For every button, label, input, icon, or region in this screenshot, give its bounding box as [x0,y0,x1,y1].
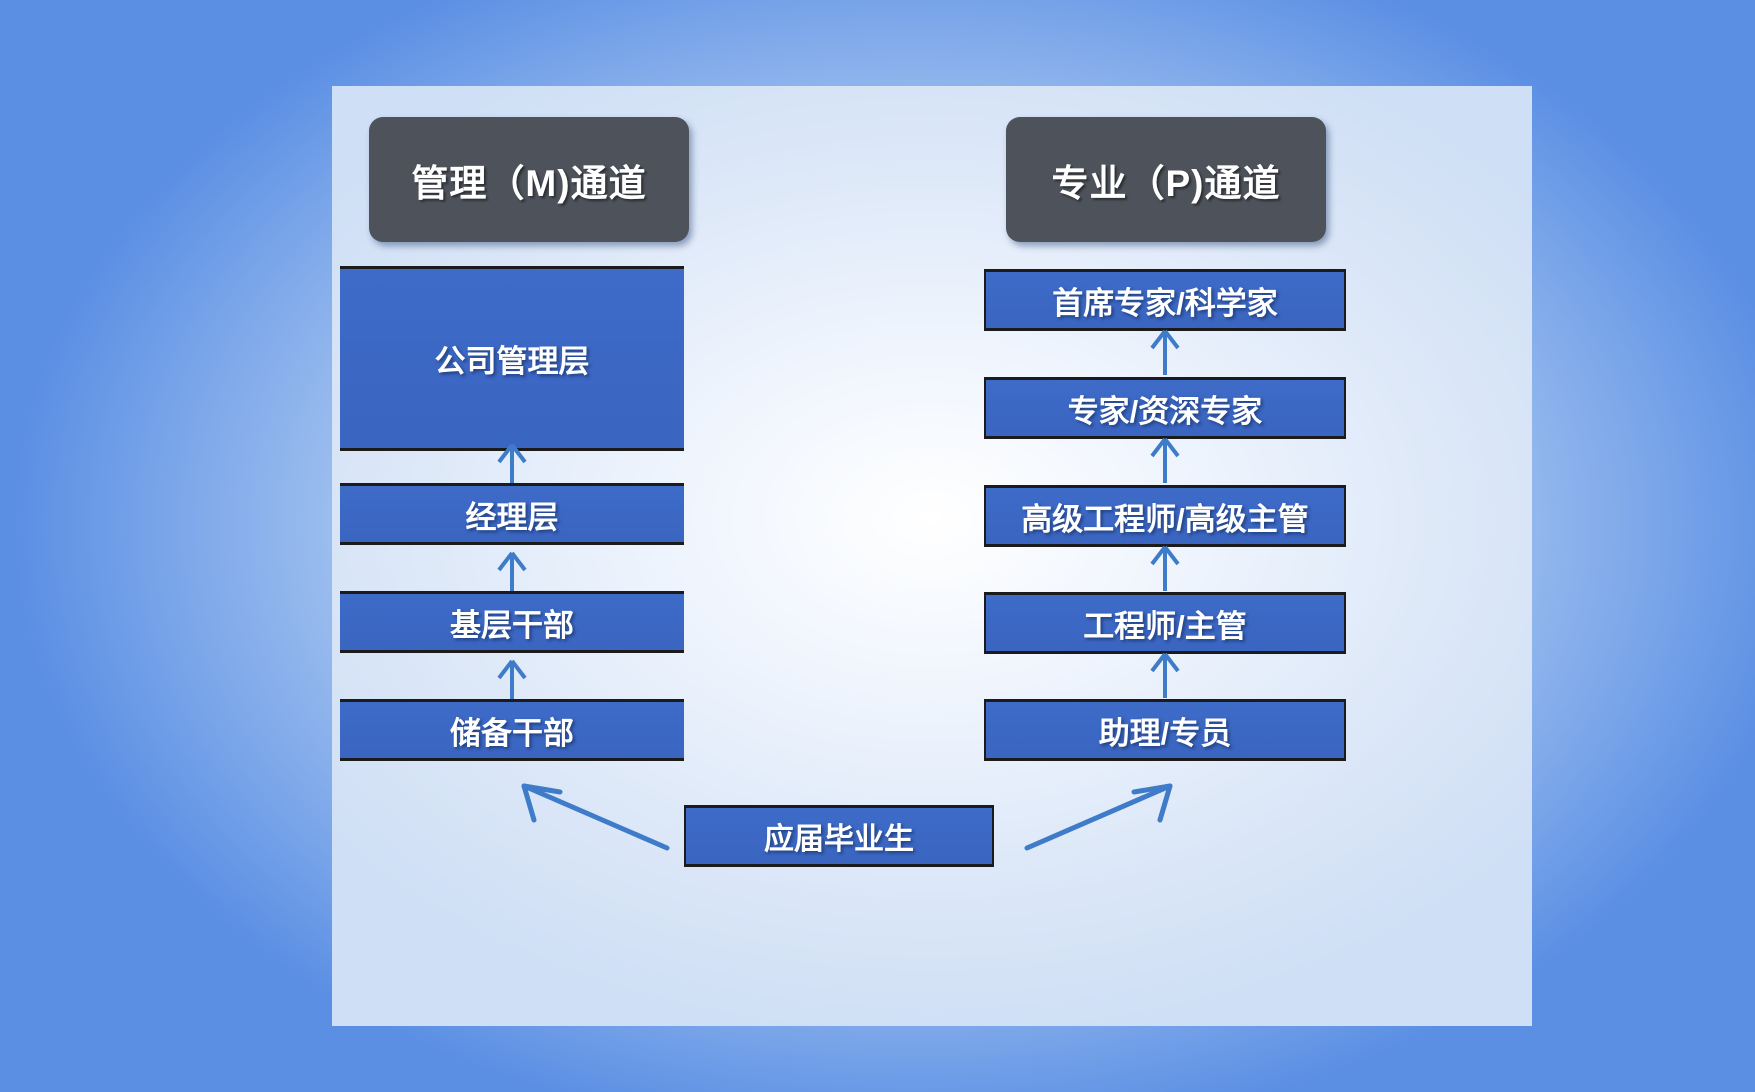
entry-node-box[interactable]: 应届毕业生 [684,805,994,867]
management-level-4-label: 公司管理层 [435,336,590,381]
professional-channel-header[interactable]: 专业（P)通道 [1006,117,1326,242]
professional-level-3-box[interactable]: 高级工程师/高级主管 [984,485,1346,547]
professional-level-1-box[interactable]: 助理/专员 [984,699,1346,761]
diagram-canvas: 管理（M)通道 专业（P)通道 公司管理层 经理层 基层干部 [332,86,1532,1026]
promotion-arrow-professional-5 [1148,329,1182,375]
promotion-arrow-professional-3 [1148,545,1182,591]
professional-level-3-label: 高级工程师/高级主管 [1021,494,1309,539]
branch-arrow-to-management [512,776,672,856]
professional-level-2-label: 工程师/主管 [1083,601,1247,646]
slide-stage: 管理（M)通道 专业（P)通道 公司管理层 经理层 基层干部 [0,0,1755,1092]
professional-level-5-box[interactable]: 首席专家/科学家 [984,269,1346,331]
professional-level-4-box[interactable]: 专家/资深专家 [984,377,1346,439]
entry-node-label: 应届毕业生 [764,814,914,858]
management-level-3-label: 经理层 [466,492,559,537]
management-level-1-label: 储备干部 [450,708,574,753]
promotion-arrow-professional-2 [1148,652,1182,698]
professional-level-4-label: 专家/资深专家 [1068,386,1263,431]
professional-level-5-label: 首席专家/科学家 [1052,278,1278,323]
management-channel-header-label: 管理（M)通道 [411,153,646,207]
professional-level-1-label: 助理/专员 [1099,708,1232,753]
management-level-1-box[interactable]: 储备干部 [340,699,684,761]
professional-channel-header-label: 专业（P)通道 [1052,153,1281,207]
management-level-3-box[interactable]: 经理层 [340,483,684,545]
professional-level-2-box[interactable]: 工程师/主管 [984,592,1346,654]
management-level-4-box[interactable]: 公司管理层 [340,266,684,451]
branch-arrow-to-professional [1022,776,1182,856]
management-level-2-box[interactable]: 基层干部 [340,591,684,653]
promotion-arrow-professional-4 [1148,437,1182,483]
management-channel-header[interactable]: 管理（M)通道 [369,117,689,242]
management-level-2-label: 基层干部 [450,600,574,645]
